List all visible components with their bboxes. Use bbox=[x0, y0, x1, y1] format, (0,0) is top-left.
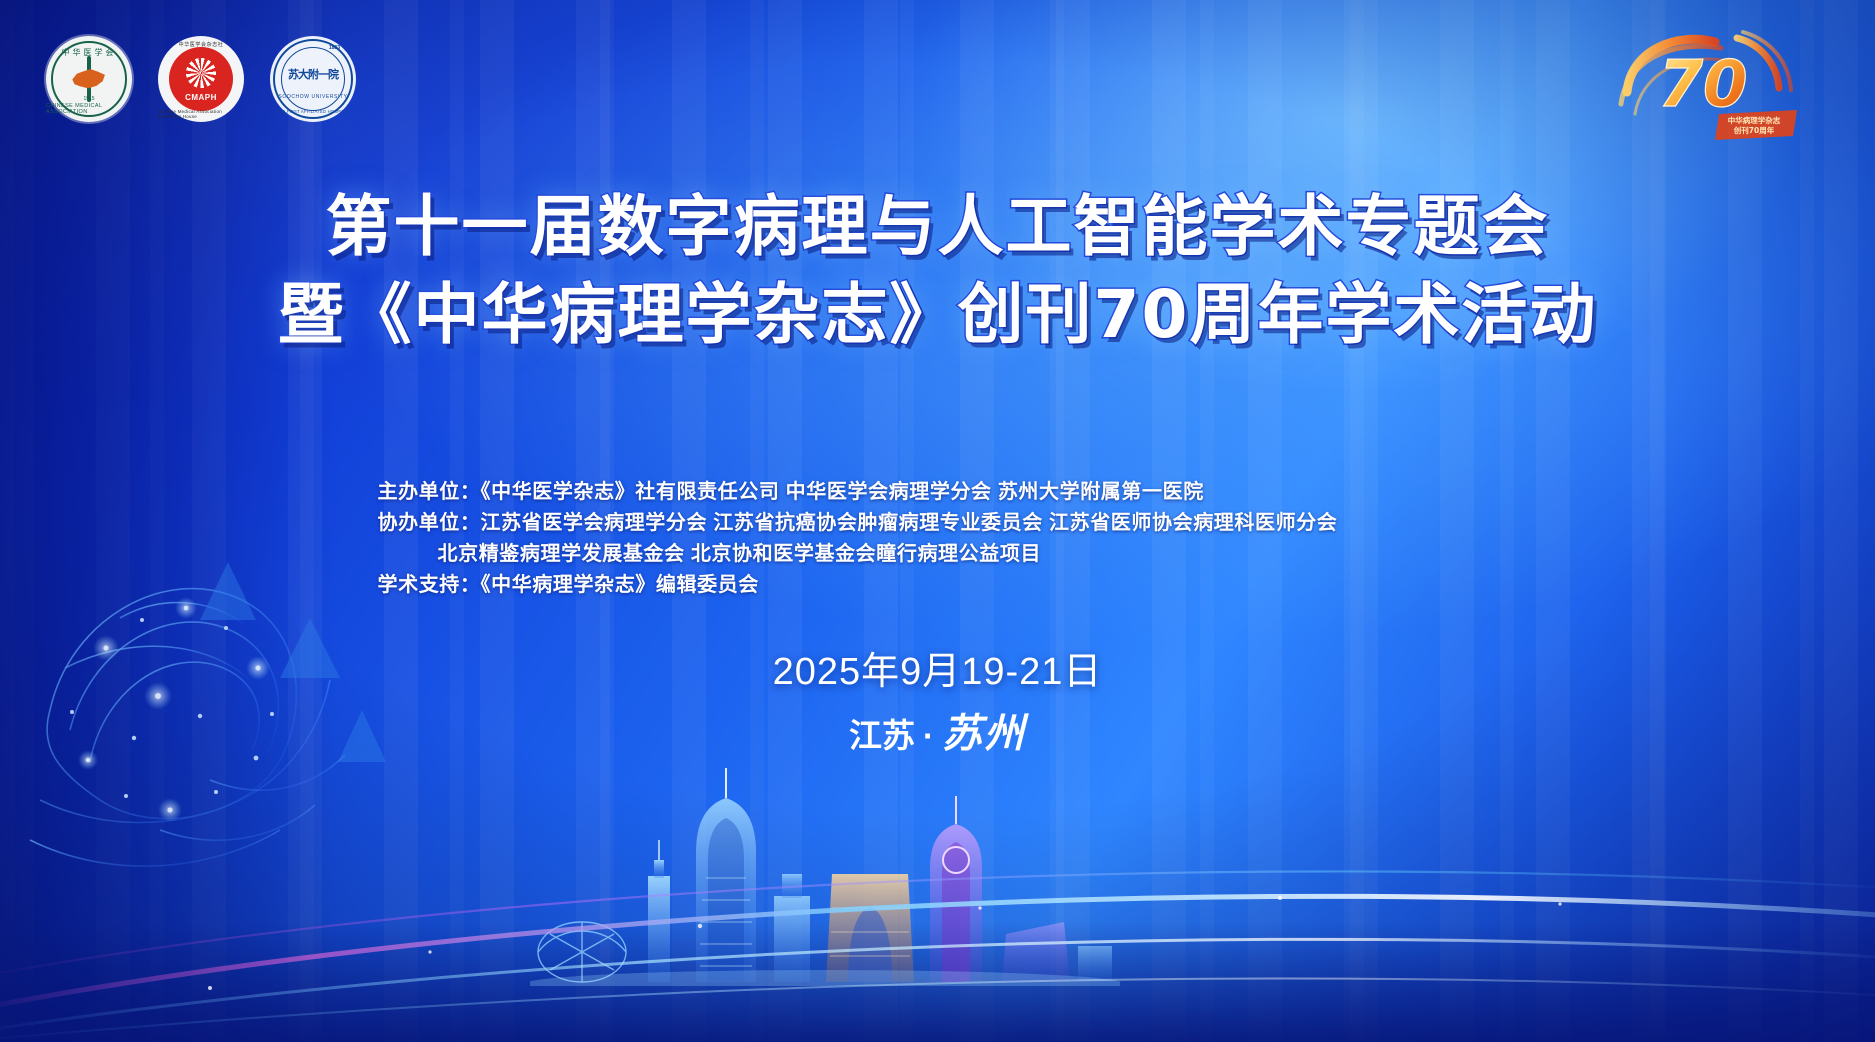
anniversary-70-emblem: 70 中华病理学杂志 创刊70周年 bbox=[1611, 26, 1801, 146]
anniversary-number: 70 bbox=[1658, 48, 1747, 122]
svg-text:创刊70周年: 创刊70周年 bbox=[1733, 125, 1775, 135]
event-details-block: 2025年9月19-21日 江苏 · 苏州 bbox=[0, 640, 1875, 759]
cmaph-abbr: CMAPH bbox=[185, 93, 217, 102]
organization-logos: 中华医学会 1915 CHINESE MEDICAL ASSOCIATION 中… bbox=[46, 36, 356, 122]
organizers-block: 主办单位：《中华医学杂志》社有限责任公司 中华医学会病理学分会 苏州大学附属第一… bbox=[0, 477, 1875, 601]
event-province: 江苏 bbox=[849, 709, 915, 757]
conference-banner: 中华医学会 1915 CHINESE MEDICAL ASSOCIATION 中… bbox=[0, 0, 1875, 1042]
title-line-2: 暨《中华病理学杂志》创刊70周年学术活动 bbox=[0, 276, 1875, 354]
svg-text:中华病理学杂志: 中华病理学杂志 bbox=[1728, 115, 1781, 125]
cmaph-pinwheel-icon bbox=[184, 56, 218, 90]
anniversary-caption: 中华病理学杂志 创刊70周年 bbox=[1715, 110, 1797, 140]
event-location: 江苏 · 苏州 bbox=[849, 701, 1026, 759]
cmaph-disc: CMAPH bbox=[169, 47, 233, 111]
location-separator-dot: · bbox=[917, 717, 940, 755]
sdu-en-text: SOOCHOW UNIVERSITY bbox=[278, 94, 347, 100]
sdu-year: 1883 bbox=[329, 45, 340, 51]
title-line-1: 第十一届数字病理与人工智能学术专题会 bbox=[0, 188, 1875, 266]
organizer-line-support: 学术支持：《中华病理学杂志》编辑委员会 bbox=[378, 570, 1498, 601]
title-block: 第十一届数字病理与人工智能学术专题会 暨《中华病理学杂志》创刊70周年学术活动 bbox=[0, 188, 1875, 354]
sdu-cn-text: 苏大附一院 bbox=[288, 66, 338, 82]
sdu-en-text2: THE FIRST AFFILIATED HOSPITAL bbox=[276, 109, 349, 114]
suzhou-skyline-graphic bbox=[530, 756, 1120, 986]
cmaph-logo: 中华医学会杂志社 CMAPH Chinese Medical Associati… bbox=[158, 36, 244, 122]
cma-en-text: CHINESE MEDICAL ASSOCIATION bbox=[46, 103, 132, 115]
event-city: 苏州 bbox=[942, 701, 1026, 759]
cmaph-en-text: Chinese Medical Association Publishing H… bbox=[158, 109, 244, 119]
organizer-line-host: 主办单位：《中华医学杂志》社有限责任公司 中华医学会病理学分会 苏州大学附属第一… bbox=[378, 477, 1498, 508]
organizer-line-coorganizer: 协办单位：江苏省医学会病理学分会 江苏省抗癌协会肿瘤病理专业委员会 江苏省医师协… bbox=[378, 508, 1498, 539]
chinese-medical-association-logo: 中华医学会 1915 CHINESE MEDICAL ASSOCIATION bbox=[46, 36, 132, 122]
cma-year: 1915 bbox=[83, 96, 94, 102]
event-date: 2025年9月19-21日 bbox=[0, 640, 1875, 695]
organizer-line-coorganizer-2: 北京精鉴病理学发展基金会 北京协和医学基金会瞳行病理公益项目 bbox=[318, 539, 1558, 570]
cmaph-cn-text: 中华医学会杂志社 bbox=[179, 41, 224, 48]
soochow-hospital-logo: 1883 苏大附一院 SOOCHOW UNIVERSITY THE FIRST … bbox=[270, 36, 356, 122]
